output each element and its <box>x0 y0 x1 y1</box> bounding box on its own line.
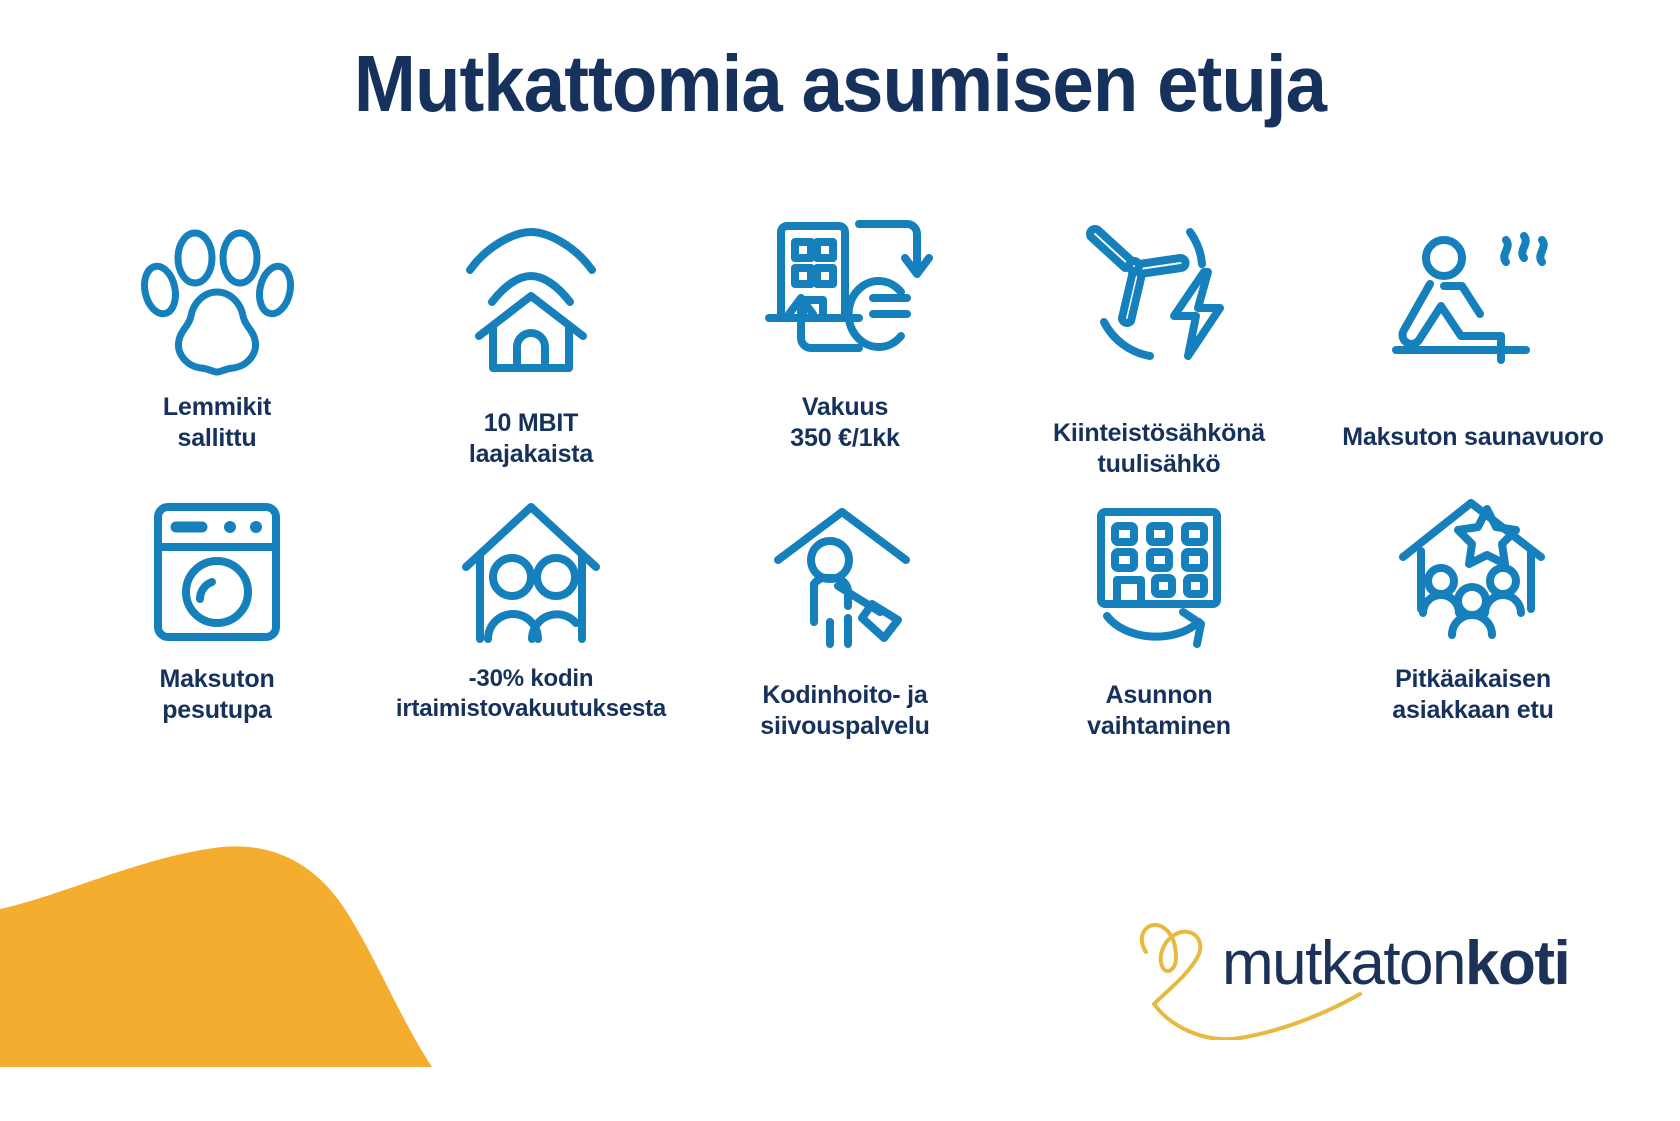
washing-machine-icon <box>142 480 292 650</box>
benefit-label: Lemmikit sallittu <box>163 392 271 455</box>
paw-print-icon <box>137 208 297 378</box>
benefit-item-deposit: Vakuus 350 €/1kk <box>688 208 1002 480</box>
benefit-label: 10 MBIT laajakaista <box>469 408 593 471</box>
brand-logo[interactable]: mutkatonkoti <box>1104 900 1574 1040</box>
benefit-item-loyalty: Pitkäaikaisen asiakkaan etu <box>1316 480 1630 770</box>
apartment-swap-icon <box>1079 480 1239 650</box>
deposit-euro-icon <box>755 208 935 378</box>
benefit-label: Maksuton pesutupa <box>159 664 274 727</box>
benefit-label: Pitkäaikaisen asiakkaan etu <box>1392 664 1553 727</box>
home-insurance-icon <box>454 480 609 650</box>
benefit-item-laundry: Maksuton pesutupa <box>60 480 374 770</box>
wifi-house-icon <box>456 208 606 378</box>
benefit-label: Kodinhoito- ja siivouspalvelu <box>760 680 930 743</box>
sauna-icon <box>1388 208 1558 378</box>
benefit-item-wind-power: Kiinteistösähkönä tuulisähkö <box>1002 208 1316 480</box>
benefits-row-2: Maksuton pesutupa -30% kodin irtaimistov… <box>60 480 1630 770</box>
benefit-item-broadband: 10 MBIT laajakaista <box>374 208 688 480</box>
amber-hill-blob <box>0 822 470 1067</box>
logo-wordmark: mutkatonkoti <box>1222 928 1569 999</box>
page-title: Mutkattomia asumisen etuja <box>59 42 1621 126</box>
loyalty-star-icon <box>1391 480 1556 650</box>
benefit-label: Kiinteistösähkönä tuulisähkö <box>1053 418 1265 481</box>
benefit-label: Vakuus 350 €/1kk <box>790 392 899 455</box>
cleaning-service-icon <box>768 480 923 650</box>
benefit-item-apartment-swap: Asunnon vaihtaminen <box>1002 480 1316 770</box>
benefit-item-home-insurance: -30% kodin irtaimistovakuutuksesta <box>374 480 688 770</box>
benefit-label: Maksuton saunavuoro <box>1342 422 1604 453</box>
benefit-item-pets: Lemmikit sallittu <box>60 208 374 480</box>
logo-text-bold: koti <box>1465 929 1569 998</box>
benefit-label: -30% kodin irtaimistovakuutuksesta <box>396 664 666 724</box>
logo-text-regular: mutkaton <box>1222 929 1465 998</box>
benefits-grid: Lemmikit sallittu 10 MBIT laajakaista <box>60 208 1630 770</box>
benefit-label: Asunnon vaihtaminen <box>1087 680 1231 743</box>
benefits-row-1: Lemmikit sallittu 10 MBIT laajakaista <box>60 208 1630 480</box>
benefit-item-cleaning: Kodinhoito- ja siivouspalvelu <box>688 480 1002 770</box>
infographic-page: Mutkattomia asumisen etuja Lemmikit sall… <box>0 0 1680 1121</box>
wind-power-icon <box>1074 208 1244 374</box>
benefit-item-sauna: Maksuton saunavuoro <box>1316 208 1630 480</box>
